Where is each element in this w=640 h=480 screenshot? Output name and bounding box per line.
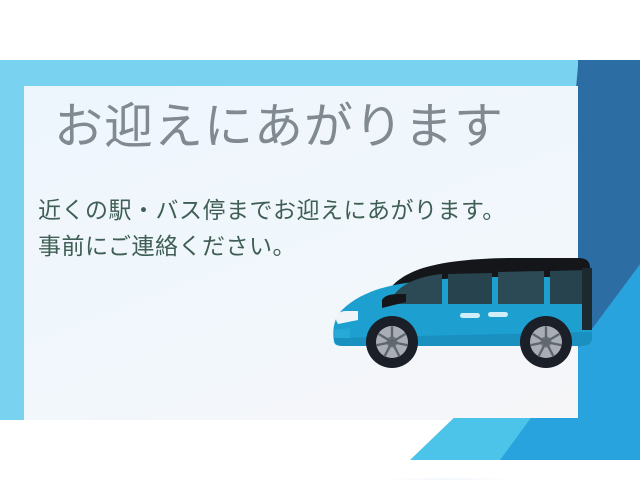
- pickup-service-banner: お迎えにあがります 近くの駅・バス停までお迎えにあがります。 事前にご連絡くださ…: [0, 0, 640, 480]
- page-title: お迎えにあがります: [54, 100, 504, 154]
- car-rear-quarter-glass: [550, 270, 586, 304]
- minivan-illustration: [320, 238, 610, 378]
- car-sliding-door-glass: [498, 271, 544, 304]
- car-rear-pillar: [582, 268, 592, 330]
- bottom-left-blue-parallelogram-shape: [410, 418, 640, 460]
- top-right-dark-blue-shape: [576, 60, 640, 88]
- car-rear-door-handle: [488, 312, 508, 317]
- car-front-door-handle: [460, 313, 480, 318]
- body-copy-line-1: 近くの駅・バス停までお迎えにあがります。: [38, 194, 506, 230]
- top-cyan-band-shape: [0, 60, 640, 86]
- car-front-wheel: [366, 316, 418, 368]
- bottom-right-blue-parallelogram-shape: [500, 418, 640, 460]
- content-card: お迎えにあがります 近くの駅・バス停までお迎えにあがります。 事前にご連絡くださ…: [24, 86, 578, 420]
- car-front-door-glass: [448, 273, 492, 304]
- car-rear-wheel: [520, 316, 572, 368]
